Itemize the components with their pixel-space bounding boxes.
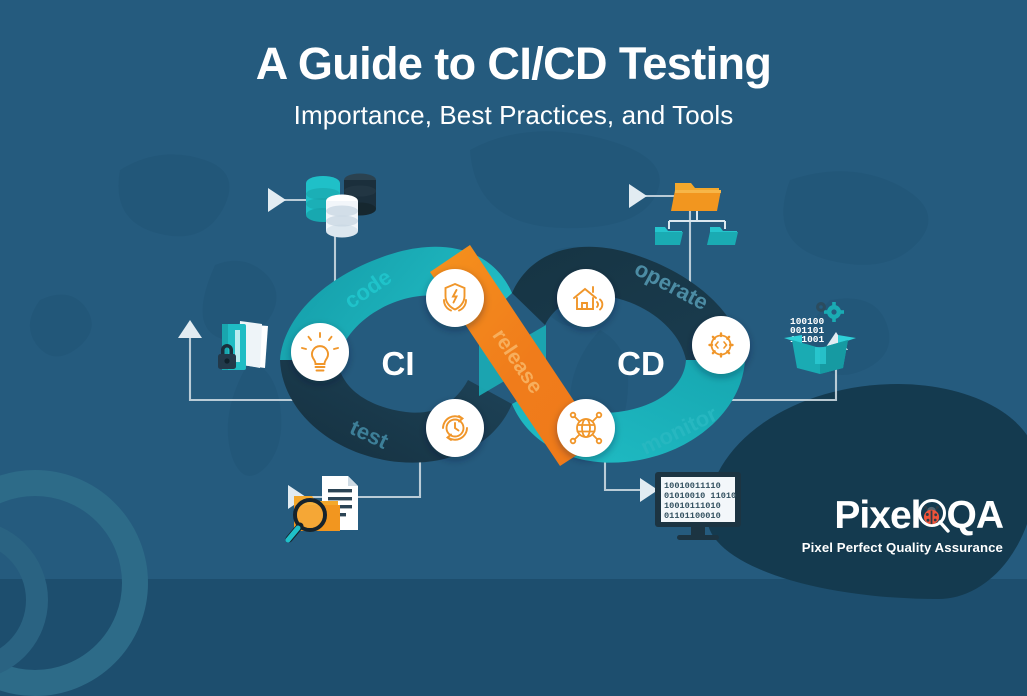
- node-circle: [557, 269, 615, 327]
- node-monitor[interactable]: [557, 399, 615, 457]
- child-folder-right: [707, 227, 738, 245]
- ladybug: [923, 506, 938, 525]
- parent-folder: [671, 183, 721, 211]
- node-idea[interactable]: [291, 323, 349, 381]
- infographic-canvas: A Guide to CI/CD Testing Importance, Bes…: [0, 0, 1027, 579]
- label-cd: CD: [617, 345, 665, 382]
- monitor-base: [677, 535, 719, 540]
- logo-tagline: Pixel Perfect Quality Assurance: [802, 540, 1003, 555]
- svg-text:10010111010: 10010111010: [664, 501, 721, 511]
- tree-connectors: [669, 211, 725, 229]
- logo-wordmark: Pixel QA: [802, 495, 1003, 535]
- pixelqa-logo[interactable]: Pixel QA Pixel Perfect Qu: [802, 495, 1003, 555]
- ladybug-magnifier-icon: [917, 495, 950, 535]
- node-circle: [557, 399, 615, 457]
- svg-text:01010010 11010: 01010010 11010: [664, 491, 736, 501]
- svg-text:01101100010: 01101100010: [664, 511, 721, 521]
- database-white: [326, 195, 358, 238]
- monitor-binary-icon: 10010011110 01010010 11010 10010111010 0…: [653, 470, 743, 542]
- database-stack-icon: [298, 170, 386, 242]
- svg-text:10010011110: 10010011110: [664, 481, 721, 491]
- node-deploy[interactable]: [557, 269, 615, 327]
- node-operate[interactable]: [692, 316, 750, 374]
- monitor-neck: [691, 527, 705, 536]
- package-box-icon: 100100 001101 101001: [782, 300, 858, 376]
- cicd-infinity-diagram: CI CD code test release operate monitor: [0, 0, 1027, 579]
- secure-folder-icon: [208, 314, 284, 382]
- logo-text-qa: QA: [947, 496, 1004, 535]
- label-ci: CI: [382, 345, 415, 382]
- node-secure-build[interactable]: [426, 269, 484, 327]
- child-folder-left: [655, 227, 683, 245]
- magnifier-icon: [288, 500, 325, 540]
- folder-hierarchy-icon: [655, 175, 739, 247]
- logo-text-pixel: Pixel: [834, 496, 920, 535]
- document-search-icon: [282, 472, 378, 548]
- node-continuous-test[interactable]: [426, 399, 484, 457]
- node-circle: [291, 323, 349, 381]
